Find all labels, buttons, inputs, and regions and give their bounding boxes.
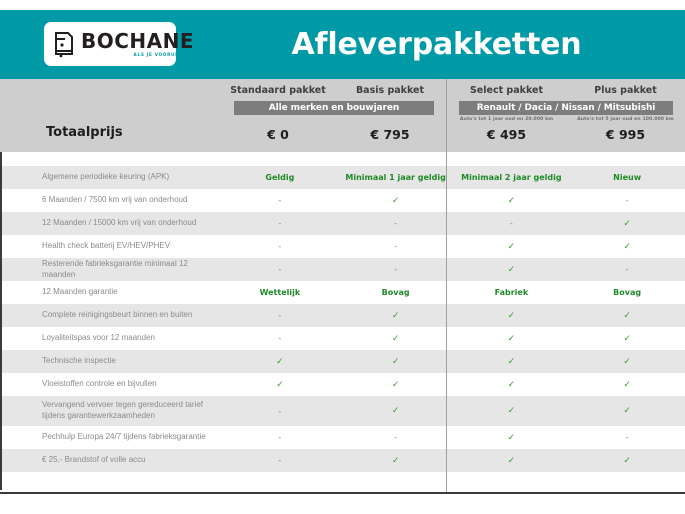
check-icon: ✓ — [338, 380, 454, 390]
check-icon: ✓ — [454, 334, 570, 344]
table-bottom-spacer — [0, 472, 685, 490]
page-title: Afleverpakketten — [188, 10, 685, 79]
check-icon: ✓ — [338, 311, 454, 321]
column-header-band: Totaalprijs Standaard pakket Basis pakke… — [0, 79, 685, 152]
check-icon: ✓ — [338, 357, 454, 367]
check-icon: ✓ — [569, 334, 685, 344]
check-icon: ✓ — [569, 311, 685, 321]
feature-value-dash: - — [338, 242, 454, 251]
feature-value-dash: - — [338, 219, 454, 228]
feature-label: Technische inspectie — [2, 356, 222, 367]
feature-comparison-table: Algemene periodieke keuring (APK)GeldigM… — [0, 152, 685, 490]
feature-label: Pechhulp Europa 24/7 tijdens fabrieksgar… — [2, 432, 222, 443]
logo-wordmark: BOCHANE — [81, 31, 194, 51]
check-icon: ✓ — [454, 380, 570, 390]
check-icon: ✓ — [454, 265, 570, 275]
feature-value-dash: - — [569, 196, 685, 205]
feature-value-text: Fabriek — [454, 288, 570, 297]
check-icon: ✓ — [222, 357, 338, 367]
table-row: Health check batterij EV/HEV/PHEV--✓✓ — [0, 235, 685, 258]
feature-value-text: Minimaal 2 jaar geldig — [454, 173, 570, 182]
column-subtitle-select: Auto's tot 1 jaar oud en 20.000 km — [447, 117, 566, 122]
column-title-standaard: Standaard pakket — [222, 85, 334, 96]
feature-value-dash: - — [338, 265, 454, 274]
column-title-plus: Plus pakket — [566, 85, 685, 96]
table-row: 12 Maanden garantieWettelijkBovagFabriek… — [0, 281, 685, 304]
afleverpakketten-page: BOCHANE ALS JE VOORUIT WIL Afleverpakket… — [0, 0, 685, 514]
feature-label: Algemene periodieke keuring (APK) — [2, 172, 222, 183]
check-icon: ✓ — [454, 357, 570, 367]
feature-value-dash: - — [569, 265, 685, 274]
column-title-basis: Basis pakket — [334, 85, 446, 96]
feature-value-dash: - — [222, 196, 338, 205]
table-row: Technische inspectie✓✓✓✓ — [0, 350, 685, 373]
feature-label: 12 Maanden garantie — [2, 287, 222, 298]
feature-label: € 25,- Brandstof of volle accu — [2, 455, 222, 466]
check-icon: ✓ — [338, 406, 454, 416]
feature-value-dash: - — [222, 311, 338, 320]
feature-value-text: Geldig — [222, 173, 338, 182]
table-row: Vervangend vervoer tegen gereduceerd tar… — [0, 396, 685, 426]
check-icon: ✓ — [454, 433, 570, 443]
feature-value-dash: - — [222, 433, 338, 442]
feature-label: 12 Maanden / 15000 km vrij van onderhoud — [2, 218, 222, 229]
column-price-standaard: € 0 — [222, 127, 334, 142]
bochane-mark-icon — [52, 30, 76, 58]
check-icon: ✓ — [569, 380, 685, 390]
table-bottom-rule — [0, 492, 685, 494]
table-row: 12 Maanden / 15000 km vrij van onderhoud… — [0, 212, 685, 235]
column-price-basis: € 795 — [334, 127, 446, 142]
feature-value-dash: - — [222, 242, 338, 251]
table-row: Complete reinigingsbeurt binnen en buite… — [0, 304, 685, 327]
logo-tagline: ALS JE VOORUIT WIL — [134, 53, 195, 57]
feature-value-dash: - — [222, 456, 338, 465]
table-top-spacer — [0, 152, 685, 166]
page-banner: BOCHANE ALS JE VOORUIT WIL Afleverpakket… — [0, 10, 685, 79]
feature-value-text: Bovag — [338, 288, 454, 297]
group-divider — [446, 79, 447, 493]
column-title-select: Select pakket — [447, 85, 566, 96]
group-badge-renault: Renault / Dacia / Nissan / Mitsubishi — [459, 101, 673, 115]
feature-value-text: Minimaal 1 jaar geldig — [338, 173, 454, 182]
check-icon: ✓ — [569, 242, 685, 252]
table-row: € 25,- Brandstof of volle accu-✓✓✓ — [0, 449, 685, 472]
feature-label: Complete reinigingsbeurt binnen en buite… — [2, 310, 222, 321]
check-icon: ✓ — [454, 196, 570, 206]
column-price-select: € 495 — [447, 127, 566, 142]
feature-label: Vervangend vervoer tegen gereduceerd tar… — [2, 400, 222, 422]
check-icon: ✓ — [338, 456, 454, 466]
feature-value-dash: - — [222, 407, 338, 416]
totaalprijs-label: Totaalprijs — [46, 125, 123, 140]
feature-value-dash: - — [222, 334, 338, 343]
table-row: Algemene periodieke keuring (APK)GeldigM… — [0, 166, 685, 189]
column-price-plus: € 995 — [566, 127, 685, 142]
bochane-logo: BOCHANE ALS JE VOORUIT WIL — [44, 22, 176, 66]
feature-value-text: Wettelijk — [222, 288, 338, 297]
feature-label: 6 Maanden / 7500 km vrij van onderhoud — [2, 195, 222, 206]
table-row: Loyaliteitspas voor 12 maanden-✓✓✓ — [0, 327, 685, 350]
check-icon: ✓ — [222, 380, 338, 390]
feature-value-dash: - — [338, 433, 454, 442]
check-icon: ✓ — [569, 406, 685, 416]
table-row: 6 Maanden / 7500 km vrij van onderhoud-✓… — [0, 189, 685, 212]
feature-value-dash: - — [222, 219, 338, 228]
feature-value-dash: - — [454, 219, 570, 228]
package-group-all-brands: Standaard pakket Basis pakket Alle merke… — [222, 79, 446, 152]
check-icon: ✓ — [338, 196, 454, 206]
table-row: Resterende fabrieksgarantie minimaal 12 … — [0, 258, 685, 281]
check-icon: ✓ — [338, 334, 454, 344]
feature-label: Resterende fabrieksgarantie minimaal 12 … — [2, 259, 222, 281]
check-icon: ✓ — [454, 406, 570, 416]
package-group-renault: Select pakket Plus pakket Renault / Daci… — [447, 79, 685, 152]
feature-value-dash: - — [569, 433, 685, 442]
feature-value-text: Nieuw — [569, 173, 685, 182]
feature-label: Health check batterij EV/HEV/PHEV — [2, 241, 222, 252]
feature-label: Vloeistoffen controle en bijvullen — [2, 379, 222, 390]
check-icon: ✓ — [454, 242, 570, 252]
table-row: Pechhulp Europa 24/7 tijdens fabrieksgar… — [0, 426, 685, 449]
column-subtitle-plus: Auto's tot 5 jaar oud en 100.000 km — [566, 117, 685, 122]
check-icon: ✓ — [454, 456, 570, 466]
table-row: Vloeistoffen controle en bijvullen✓✓✓✓ — [0, 373, 685, 396]
check-icon: ✓ — [569, 456, 685, 466]
group-badge-all-brands: Alle merken en bouwjaren — [234, 101, 434, 115]
feature-value-text: Bovag — [569, 288, 685, 297]
check-icon: ✓ — [569, 357, 685, 367]
check-icon: ✓ — [454, 311, 570, 321]
feature-label: Loyaliteitspas voor 12 maanden — [2, 333, 222, 344]
check-icon: ✓ — [569, 219, 685, 229]
feature-value-dash: - — [222, 265, 338, 274]
